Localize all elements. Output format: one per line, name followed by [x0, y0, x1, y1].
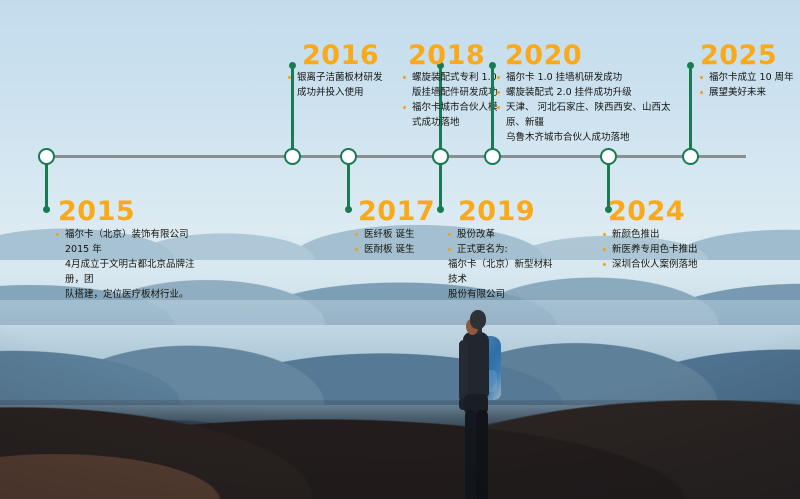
node-stem	[491, 65, 494, 155]
event-bullet: 展望美好未来	[700, 85, 800, 100]
event-bullet: 新颜色推出	[603, 227, 723, 242]
event-bullet: 福尔卡（北京）装饰有限公司 2015 年 4月成立于文明古都北京品牌注册，团 队…	[56, 227, 206, 302]
node-marker-2025[interactable]	[682, 148, 699, 165]
node-marker-2024[interactable]	[600, 148, 617, 165]
node-marker-2019[interactable]	[432, 148, 449, 165]
event-bullet: 天津、 河北石家庄、陕西西安、山西太原、新疆 乌鲁木齐城市合伙人成功落地	[497, 100, 677, 145]
node-marker-2017[interactable]	[340, 148, 357, 165]
timeline-axis	[46, 155, 746, 158]
event-bullet: 银离子洁菌板材研发 成功并投入使用	[288, 70, 393, 100]
event-details-2016: 银离子洁菌板材研发 成功并投入使用	[288, 70, 393, 100]
event-bullet: 福尔卡成立 10 周年	[700, 70, 800, 85]
year-label-2017: 2017	[358, 198, 435, 225]
year-label-2015: 2015	[58, 198, 135, 225]
node-stem-end-dot	[687, 62, 694, 69]
event-bullet: 福尔卡 1.0 挂墙机研发成功	[497, 70, 677, 85]
node-stem-end-dot	[289, 62, 296, 69]
node-stem	[689, 65, 692, 155]
node-stem-end-dot	[489, 62, 496, 69]
event-details-2020: 福尔卡 1.0 挂墙机研发成功螺旋装配式 2.0 挂件成功升级天津、 河北石家庄…	[497, 70, 677, 145]
event-bullet: 福尔卡城市合伙人模 式成功落地	[403, 100, 503, 130]
node-stem-end-dot	[43, 206, 50, 213]
year-label-2025: 2025	[700, 42, 777, 69]
event-details-2024: 新颜色推出新医养专用色卡推出深圳合伙人案例落地	[603, 227, 723, 272]
node-marker-2015[interactable]	[38, 148, 55, 165]
event-bullet: 正式更名为:	[448, 242, 558, 257]
event-subtext: 福尔卡（北京）新型材料技术 股份有限公司	[448, 257, 558, 302]
year-label-2020: 2020	[505, 42, 582, 69]
event-details-2019: 股份改革正式更名为:福尔卡（北京）新型材料技术 股份有限公司	[448, 227, 558, 302]
event-bullet: 股份改革	[448, 227, 558, 242]
node-stem-end-dot	[437, 206, 444, 213]
event-bullet: 深圳合伙人案例落地	[603, 257, 723, 272]
node-marker-2016[interactable]	[284, 148, 301, 165]
year-label-2024: 2024	[608, 198, 685, 225]
year-label-2019: 2019	[458, 198, 535, 225]
year-label-2018: 2018	[408, 42, 485, 69]
event-bullet: 新医养专用色卡推出	[603, 242, 723, 257]
event-bullet: 螺旋装配式 2.0 挂件成功升级	[497, 85, 677, 100]
event-details-2025: 福尔卡成立 10 周年展望美好未来	[700, 70, 800, 100]
node-stem-end-dot	[345, 206, 352, 213]
event-bullet: 螺旋装配式专利 1.0 版挂墙配件研发成功	[403, 70, 503, 100]
node-marker-2020[interactable]	[484, 148, 501, 165]
event-bullet: 医耐板 诞生	[355, 242, 455, 257]
timeline-infographic: 2015福尔卡（北京）装饰有限公司 2015 年 4月成立于文明古都北京品牌注册…	[0, 0, 800, 499]
event-details-2015: 福尔卡（北京）装饰有限公司 2015 年 4月成立于文明古都北京品牌注册，团 队…	[56, 227, 206, 302]
year-label-2016: 2016	[302, 42, 379, 69]
event-details-2018: 螺旋装配式专利 1.0 版挂墙配件研发成功福尔卡城市合伙人模 式成功落地	[403, 70, 503, 130]
event-bullet: 医纤板 诞生	[355, 227, 455, 242]
event-details-2017: 医纤板 诞生医耐板 诞生	[355, 227, 455, 257]
